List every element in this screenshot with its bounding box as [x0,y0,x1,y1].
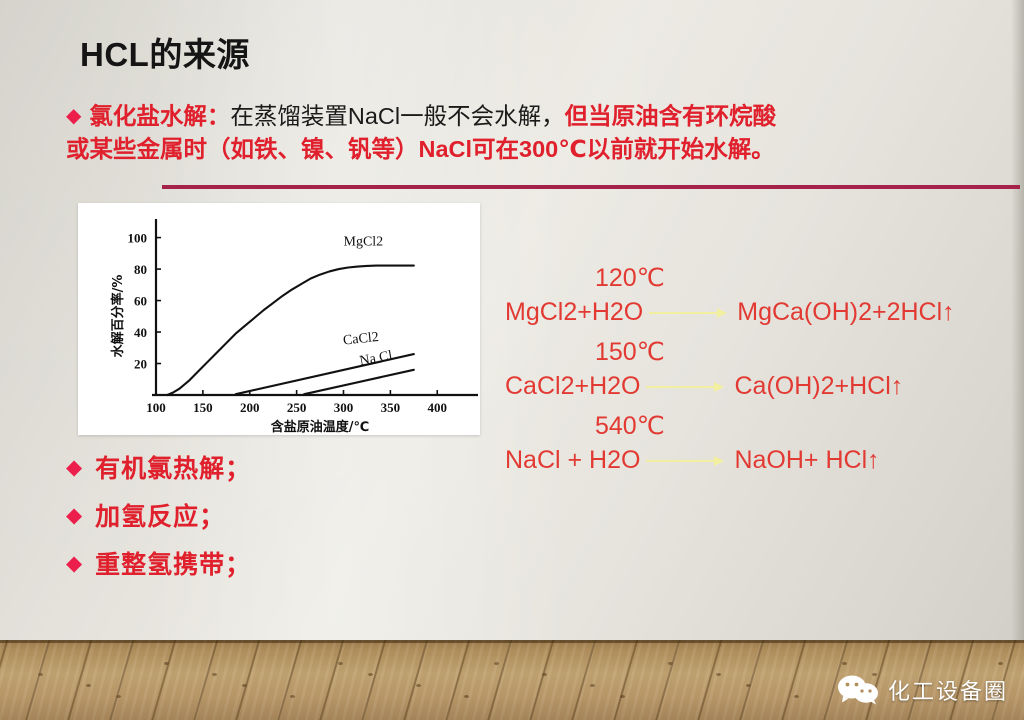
x-tick-label: 200 [240,400,260,415]
x-tick-label: 300 [334,400,354,415]
bullet-list: ◆有机氯热解；◆加氢反应；◆重整氢携带； [66,444,251,588]
equation-list: 120℃MgCl2+H2OMgCa(OH)2+2HCl↑150℃CaCl2+H2… [505,262,1005,484]
reaction-arrow-icon [644,453,730,467]
wooden-floor: 化工设备圈 [0,640,1024,720]
diamond-bullet-icon: ◆ [66,553,82,574]
wechat-icon [837,675,879,705]
y-axis-label: 水解百分率/% [110,275,126,358]
equation-line: MgCl2+H2OMgCa(OH)2+2HCl↑ [505,294,1005,330]
x-tick-label: 150 [193,400,213,415]
intro-highlight-1: 但当原油含有环烷酸 [565,103,777,129]
equation-reactants: CaCl2+H2O [505,374,640,399]
x-tick-label: 350 [381,400,401,415]
equation-products: MgCa(OH)2+2HCl↑ [737,300,954,325]
bullet-item-label: 重整氢携带； [95,545,251,581]
bullet-item-label: 有机氯热解； [95,449,251,485]
floor-top-edge [0,640,1024,643]
diamond-bullet-icon: ◆ [66,505,82,526]
equation-reactants: MgCl2+H2O [505,300,643,325]
y-tick-label: 80 [134,262,147,277]
intro-lead: 氯化盐水解： [89,103,230,129]
series-label-2: CaCl2 [342,330,379,349]
x-tick-label: 100 [146,400,166,415]
equation-1: 120℃MgCl2+H2OMgCa(OH)2+2HCl↑ [505,262,1005,330]
y-tick-label: 20 [134,357,147,372]
y-tick-label: 100 [128,231,148,246]
equation-products: NaOH+ HCl↑ [734,448,879,473]
series-label-3: Na Cl [358,349,393,370]
horizontal-rule [162,185,1020,189]
intro-paragraph: ◆氯化盐水解：在蒸馏装置NaCl一般不会水解，但当原油含有环烷酸或某些金属时（如… [66,100,996,166]
diamond-bullet-icon: ◆ [66,105,81,127]
diamond-bullet-icon: ◆ [66,457,82,478]
equation-products: Ca(OH)2+HCl↑ [734,374,903,399]
y-tick-label: 60 [134,294,147,309]
slide-canvas: HCL的来源 ◆氯化盐水解：在蒸馏装置NaCl一般不会水解，但当原油含有环烷酸或… [0,0,1024,720]
equation-3: 540℃NaCl + H2ONaOH+ HCl↑ [505,410,1005,478]
equation-temperature: 150℃ [505,336,1005,368]
bullet-item-label: 加氢反应； [95,497,225,533]
y-tick-label: 40 [134,325,147,340]
equation-line: CaCl2+H2OCa(OH)2+HCl↑ [505,368,1005,404]
equation-temperature: 540℃ [505,410,1005,442]
equation-line: NaCl + H2ONaOH+ HCl↑ [505,442,1005,478]
equation-reactants: NaCl + H2O [505,448,640,473]
series-label-1: MgCl2 [344,234,384,249]
intro-highlight-2: 或某些金属时（如铁、镍、钒等）NaCl可在300℃以前就开始水解。 [66,136,775,162]
x-tick-label: 250 [287,400,307,415]
hydrolysis-chart: 20406080100100150200250300350400水解百分率/%含… [78,203,480,435]
page-title: HCL的来源 [80,28,250,76]
reaction-arrow-icon [647,305,733,319]
equation-2: 150℃CaCl2+H2OCa(OH)2+HCl↑ [505,336,1005,404]
bullet-item-3: ◆重整氢携带； [66,540,251,586]
watermark-label: 化工设备圈 [888,674,1008,706]
reaction-arrow-icon [644,379,730,393]
x-axis-label: 含盐原油温度/℃ [270,419,370,435]
series-line-3 [304,370,414,394]
hydrolysis-chart-svg: 20406080100100150200250300350400水解百分率/%含… [78,203,480,435]
equation-temperature: 120℃ [505,262,1005,294]
background-right-edge [1011,0,1024,640]
bullet-item-1: ◆有机氯热解； [66,444,251,490]
x-tick-label: 400 [428,400,448,415]
intro-plain: 在蒸馏装置NaCl一般不会水解， [230,103,564,129]
watermark: 化工设备圈 [837,674,1008,706]
bullet-item-2: ◆加氢反应； [66,492,251,538]
